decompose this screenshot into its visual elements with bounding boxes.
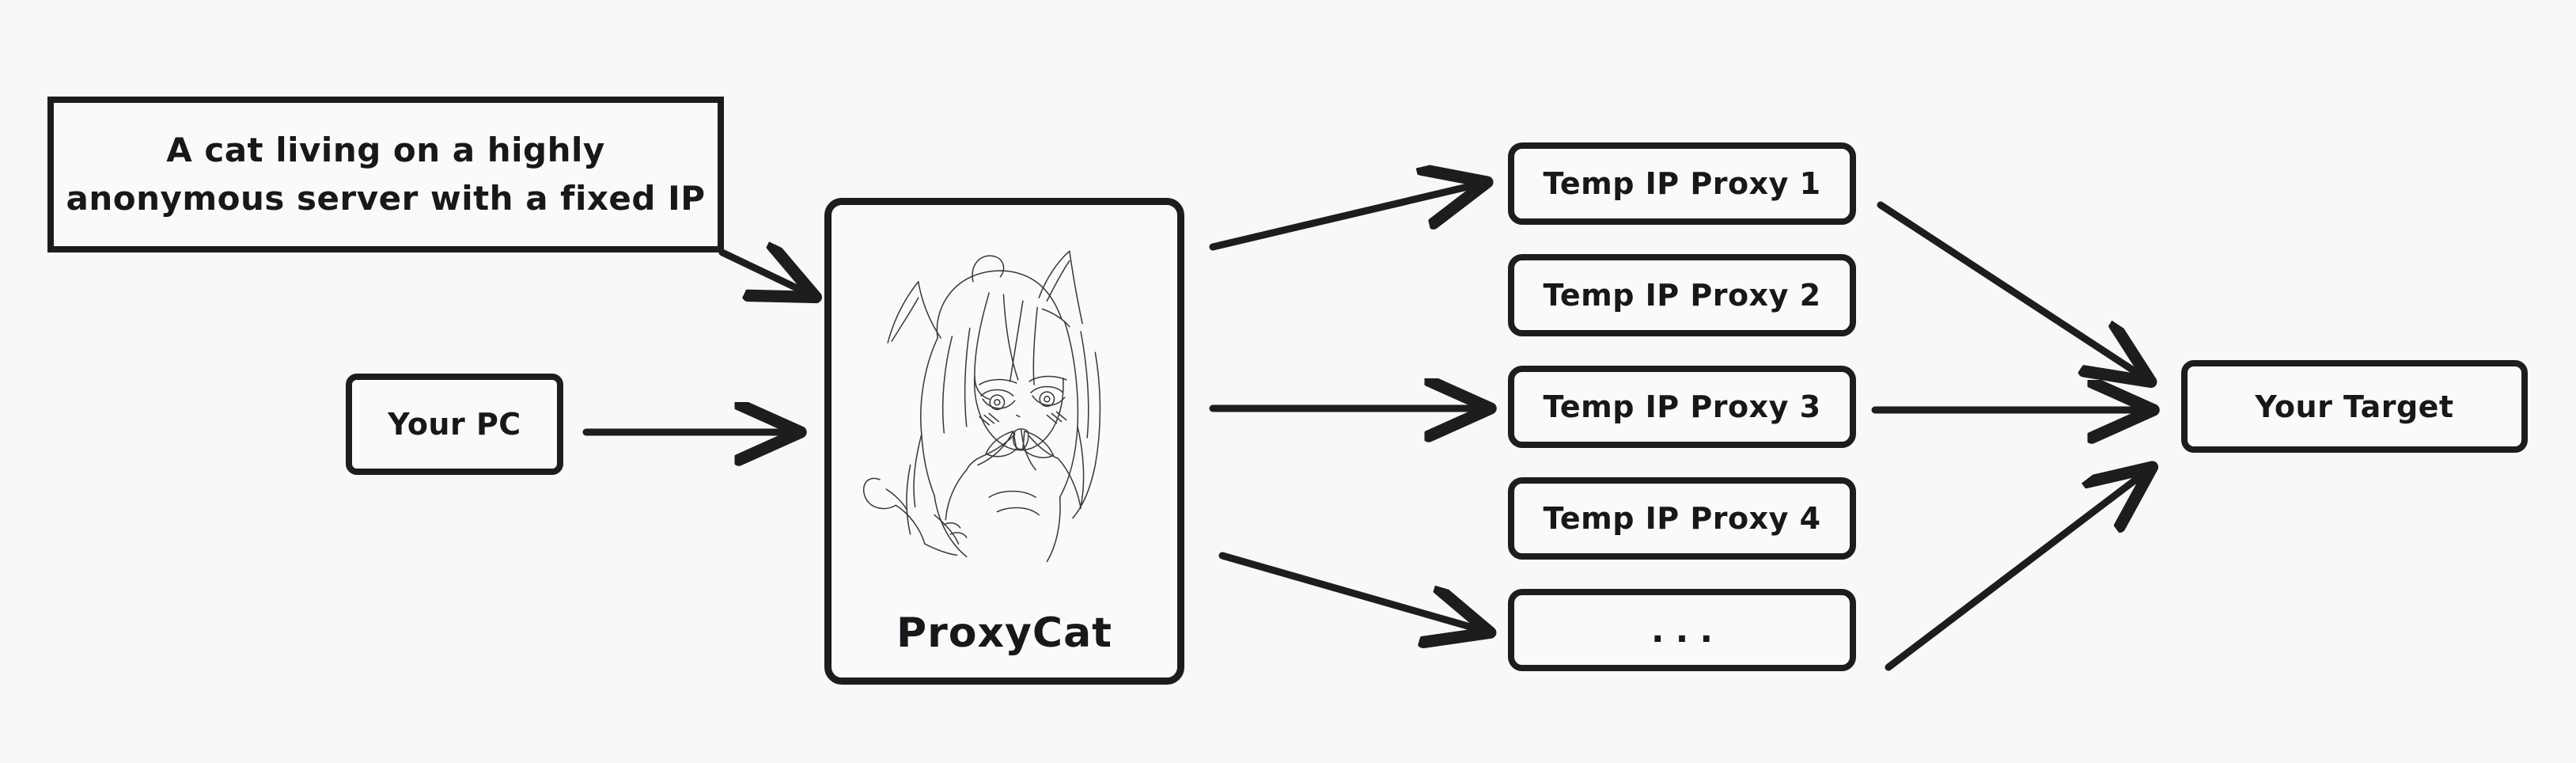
connector-proxycat-to-proxy-more [1222,556,1484,631]
proxy-more[interactable]: ... [1508,589,1856,671]
proxy-more-label: ... [1651,610,1724,651]
proxy-4-label: Temp IP Proxy 4 [1543,501,1820,536]
proxy-2-label: Temp IP Proxy 2 [1543,278,1820,313]
diagram-canvas: A cat living on a highly anonymous serve… [0,0,2576,763]
callout-line-1: A cat living on a highly [166,127,605,175]
your-target-node[interactable]: Your Target [2181,360,2528,453]
proxy-4[interactable]: Temp IP Proxy 4 [1508,477,1856,560]
proxy-3-label: Temp IP Proxy 3 [1543,389,1820,424]
proxy-3[interactable]: Temp IP Proxy 3 [1508,366,1856,448]
your-target-label: Your Target [2255,389,2453,424]
connector-proxy-more-to-target [1888,471,2147,667]
proxy-2[interactable]: Temp IP Proxy 2 [1508,254,1856,336]
your-pc-label: Your PC [388,407,521,442]
connector-callout-to-proxycat [722,252,810,294]
your-pc-node[interactable]: Your PC [346,374,563,475]
connector-proxycat-to-proxy-1 [1213,184,1481,247]
callout-line-2: anonymous server with a fixed IP [66,175,706,223]
proxycat-cat-girl-illustration [832,216,1177,609]
proxy-1-label: Temp IP Proxy 1 [1543,166,1820,201]
annotation-callout: A cat living on a highly anonymous serve… [47,97,724,252]
connector-proxy-1-to-target [1881,205,2146,378]
proxy-1[interactable]: Temp IP Proxy 1 [1508,142,1856,225]
proxycat-card[interactable]: ProxyCat [824,198,1184,685]
proxycat-label: ProxyCat [832,609,1177,678]
